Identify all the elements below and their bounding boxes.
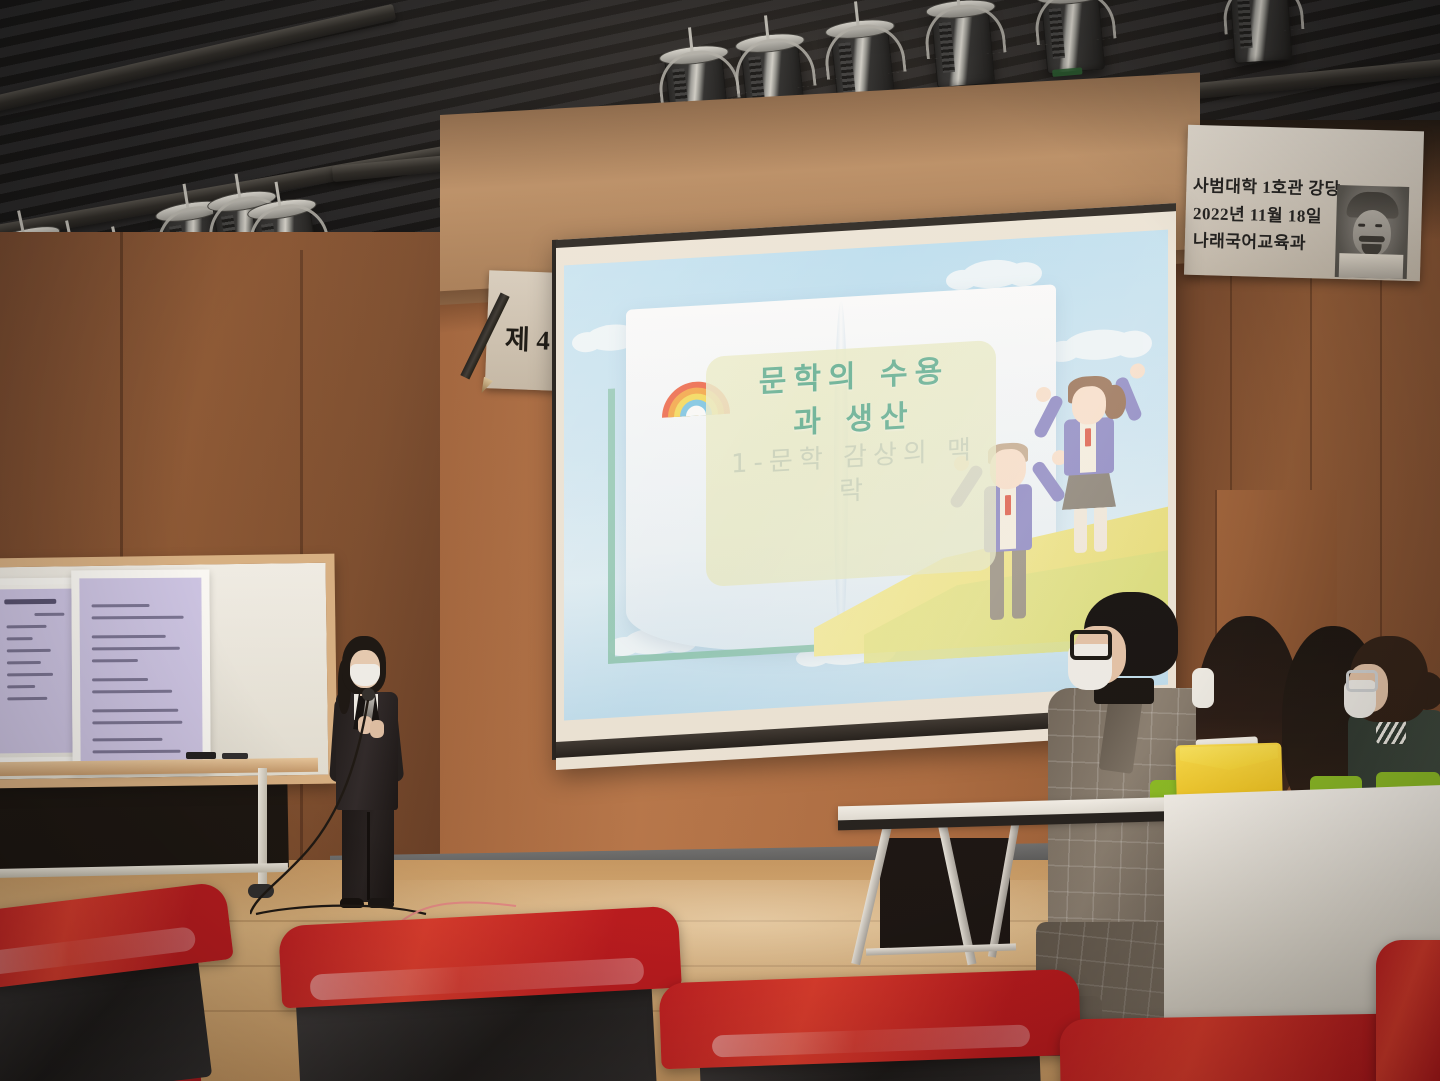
marker-pen <box>222 753 248 759</box>
glasses-icon <box>1070 630 1112 660</box>
venue-banner-line-2: 2022년 11월 18일 <box>1193 200 1354 231</box>
face-mask-icon <box>1192 668 1214 708</box>
poem-line <box>7 697 47 700</box>
poem-line <box>93 750 181 754</box>
poem-line <box>92 659 138 662</box>
stage-light-yoke <box>1221 0 1304 35</box>
auditorium-seat <box>280 916 700 1081</box>
stage-light <box>1041 0 1105 74</box>
stage-light <box>1229 0 1292 64</box>
glasses-icon <box>1346 670 1378 692</box>
poem-line <box>92 721 182 725</box>
poster-page <box>79 578 202 765</box>
poem-line <box>92 635 166 639</box>
poem-line <box>92 616 184 620</box>
poem-line <box>92 709 178 713</box>
portrait-eye-right <box>1375 224 1382 227</box>
venue-banner-line-3: 나래국어교육과 <box>1193 227 1354 258</box>
portrait-robe <box>1339 253 1404 279</box>
poem-line <box>92 690 172 694</box>
poem-line <box>7 673 53 676</box>
marker-pen <box>186 752 216 759</box>
portrait-moustache <box>1359 236 1385 243</box>
side-banner-text: 제 4 <box>504 317 550 358</box>
poem-line <box>92 738 162 741</box>
historical-figure-portrait-icon <box>1335 185 1410 279</box>
auditorium-photo: 사범대학 1호관 강당 2022년 11월 18일 나래국어교육과 제 4 <box>0 0 1440 1081</box>
poem-line <box>7 637 33 640</box>
poem-line <box>34 613 64 616</box>
seat-headrest <box>1376 940 1440 1081</box>
poem-line <box>7 625 47 628</box>
poem-line <box>7 685 35 688</box>
poem-poster-right <box>71 570 210 773</box>
venue-banner-line-1: 사범대학 1호관 강당 <box>1193 172 1354 203</box>
poem-line <box>92 604 150 607</box>
auditorium-seat <box>1376 940 1440 1081</box>
poem-line <box>92 678 148 681</box>
poem-line <box>7 649 51 652</box>
poem-line <box>7 661 41 664</box>
poem-line <box>92 647 180 651</box>
portrait-eye-left <box>1358 224 1365 227</box>
stage-light-yoke <box>1032 0 1116 45</box>
auditorium-seat <box>0 896 250 1081</box>
stage-light <box>931 8 995 89</box>
face-mask-icon <box>350 664 380 686</box>
venue-banner-text: 사범대학 1호관 강당 2022년 11월 18일 나래국어교육과 <box>1193 174 1353 257</box>
auditorium-seat <box>660 976 1080 1081</box>
poem-title-line <box>4 599 56 605</box>
